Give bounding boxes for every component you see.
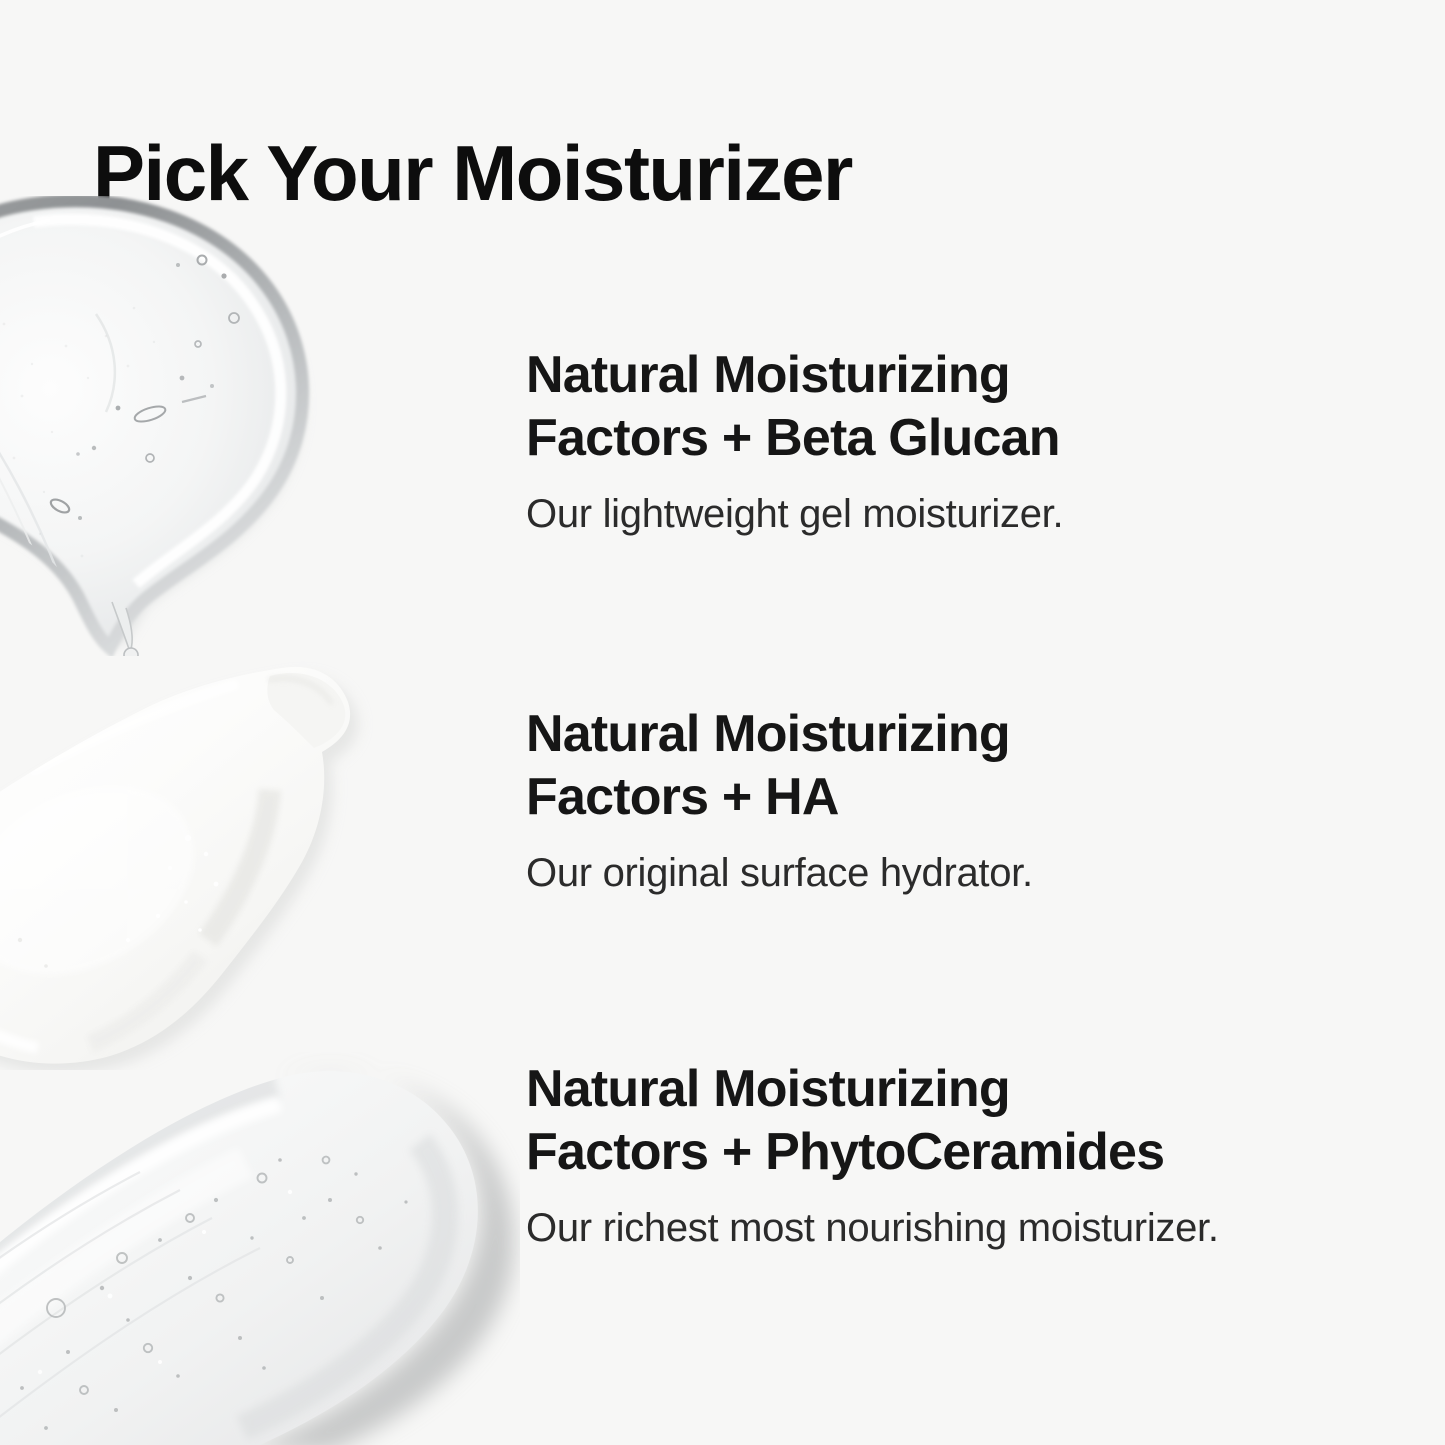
white-cream-swatch [0,640,410,1070]
product-row-phytoceramides: Natural Moisturizing Factors + PhytoCera… [526,1058,1219,1252]
clear-gel-swatch-graphic [0,196,382,656]
product-row-gel: Natural Moisturizing Factors + Beta Gluc… [526,344,1063,538]
product-heading: Natural Moisturizing Factors + Beta Gluc… [526,344,1063,470]
rich-cream-swatch-graphic [0,1052,520,1445]
product-heading: Natural Moisturizing Factors + HA [526,703,1033,829]
product-subtitle: Our richest most nourishing moisturizer. [526,1184,1219,1252]
product-subtitle: Our lightweight gel moisturizer. [526,470,1063,538]
rich-cream-swatch [0,1052,520,1445]
clear-gel-swatch [0,196,382,656]
product-heading: Natural Moisturizing Factors + PhytoCera… [526,1058,1219,1184]
product-row-ha: Natural Moisturizing Factors + HA Our or… [526,703,1033,897]
product-subtitle: Our original surface hydrator. [526,829,1033,897]
moisturizer-comparison-page: Pick Your Moisturizer [0,0,1445,1445]
white-cream-swatch-graphic [0,640,410,1070]
